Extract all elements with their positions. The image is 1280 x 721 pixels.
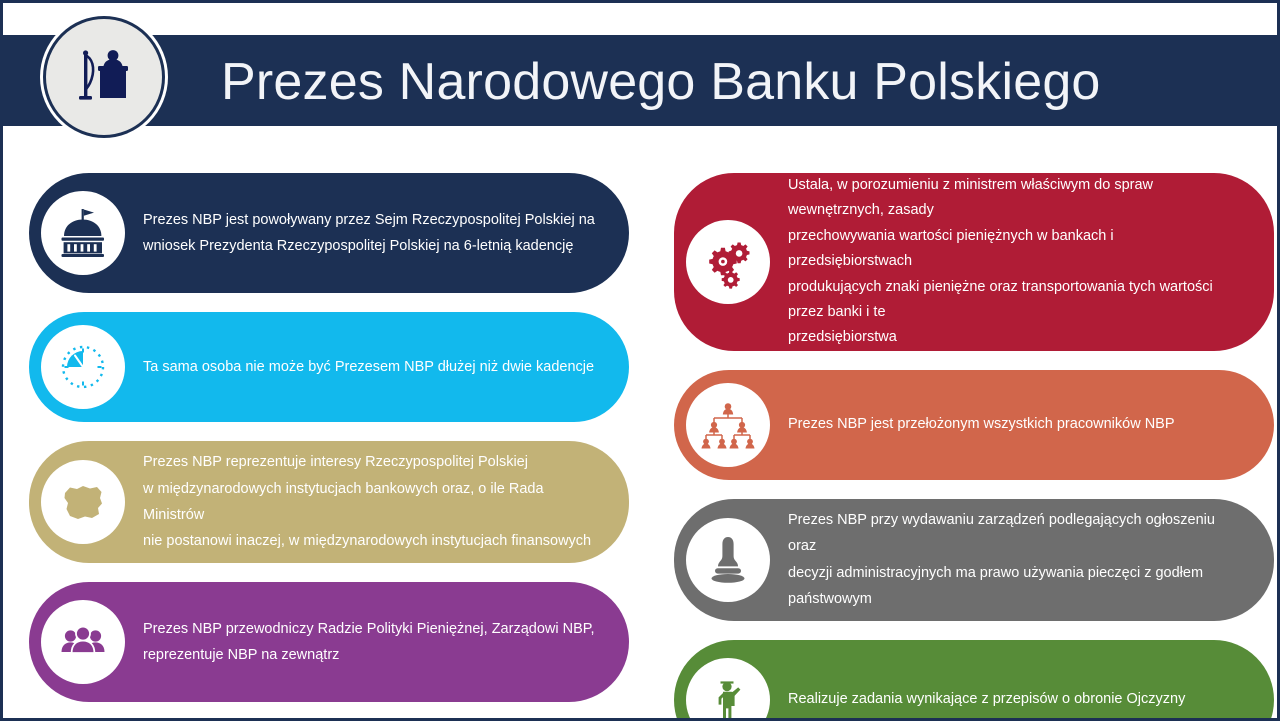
left-column: Prezes NBP jest powoływany przez Sejm Rz… xyxy=(29,173,629,721)
card-line: Prezes NBP jest przełożonym wszystkich p… xyxy=(788,411,1240,437)
gears-icon xyxy=(699,233,757,291)
card-line: Prezes NBP przy wydawaniu zarządzeń podl… xyxy=(788,507,1240,560)
header-logo xyxy=(43,16,165,138)
card-text: Ustala, w porozumieniu z ministrem właśc… xyxy=(788,173,1248,351)
card-line: wniosek Prezydenta Rzeczypospolitej Pols… xyxy=(143,233,595,259)
card-icon-wrapper xyxy=(686,383,770,467)
card-council-chairman[interactable]: Prezes NBP przewodniczy Radzie Polityki … xyxy=(29,582,629,702)
rubber-stamp-icon xyxy=(700,532,756,588)
infographic-page: Prezes Narodowego Banku Polskiego xyxy=(0,0,1280,721)
card-text: Prezes NBP jest przełożonym wszystkich p… xyxy=(788,411,1248,437)
card-line: nie postanowi inaczej, w międzynarodowyc… xyxy=(143,528,595,554)
poland-map-icon xyxy=(54,473,112,531)
org-hierarchy-icon xyxy=(699,396,757,454)
card-staff-superior[interactable]: Prezes NBP jest przełożonym wszystkich p… xyxy=(674,370,1274,480)
card-line: decyzji administracyjnych ma prawo używa… xyxy=(788,560,1240,586)
card-text: Realizuje zadania wynikające z przepisów… xyxy=(788,686,1248,712)
saluting-soldier-icon xyxy=(700,672,756,721)
clock-icon xyxy=(55,339,111,395)
card-line: Realizuje zadania wynikające z przepisów… xyxy=(788,686,1240,712)
card-icon-wrapper xyxy=(686,220,770,304)
card-line: Ustala, w porozumieniu z ministrem właśc… xyxy=(788,173,1240,224)
card-official-seal[interactable]: Prezes NBP przy wydawaniu zarządzeń podl… xyxy=(674,499,1274,621)
card-defence-duties[interactable]: Realizuje zadania wynikające z przepisów… xyxy=(674,640,1274,721)
card-international-representation[interactable]: Prezes NBP reprezentuje interesy Rzeczyp… xyxy=(29,441,629,563)
card-line: reprezentuje NBP na zewnątrz xyxy=(143,642,595,668)
card-text: Ta sama osoba nie może być Prezesem NBP … xyxy=(143,354,603,380)
card-icon-wrapper xyxy=(686,658,770,721)
card-cash-storage-rules[interactable]: Ustala, w porozumieniu z ministrem właśc… xyxy=(674,173,1274,351)
card-term-limit[interactable]: Ta sama osoba nie może być Prezesem NBP … xyxy=(29,312,629,422)
card-icon-wrapper xyxy=(686,518,770,602)
card-line: państwowym xyxy=(788,586,1240,612)
card-text: Prezes NBP reprezentuje interesy Rzeczyp… xyxy=(143,449,603,555)
card-icon-wrapper xyxy=(41,460,125,544)
card-line: Prezes NBP przewodniczy Radzie Polityki … xyxy=(143,616,595,642)
group-of-people-icon xyxy=(55,614,111,670)
card-icon-wrapper xyxy=(41,600,125,684)
card-text: Prezes NBP przewodniczy Radzie Polityki … xyxy=(143,616,603,669)
card-icon-wrapper xyxy=(41,191,125,275)
card-line: Prezes NBP jest powoływany przez Sejm Rz… xyxy=(143,207,595,233)
card-text: Prezes NBP przy wydawaniu zarządzeń podl… xyxy=(788,507,1248,613)
card-icon-wrapper xyxy=(41,325,125,409)
speaker-podium-flag-icon xyxy=(67,38,141,117)
card-line: produkujących znaki pieniężne oraz trans… xyxy=(788,275,1240,326)
card-text: Prezes NBP jest powoływany przez Sejm Rz… xyxy=(143,207,603,260)
card-line: w międzynarodowych instytucjach bankowyc… xyxy=(143,476,595,529)
page-title: Prezes Narodowego Banku Polskiego xyxy=(221,47,1201,117)
card-line: Ta sama osoba nie może być Prezesem NBP … xyxy=(143,354,595,380)
card-line: przechowywania wartości pieniężnych w ba… xyxy=(788,224,1240,275)
right-column: Ustala, w porozumieniu z ministrem właśc… xyxy=(674,173,1274,721)
cards-grid: Prezes NBP jest powoływany przez Sejm Rz… xyxy=(3,173,1280,713)
card-line: przedsiębiorstwa xyxy=(788,325,1240,350)
card-line: Prezes NBP reprezentuje interesy Rzeczyp… xyxy=(143,449,595,475)
card-appointment[interactable]: Prezes NBP jest powoływany przez Sejm Rz… xyxy=(29,173,629,293)
parliament-building-flag-icon xyxy=(55,205,111,261)
